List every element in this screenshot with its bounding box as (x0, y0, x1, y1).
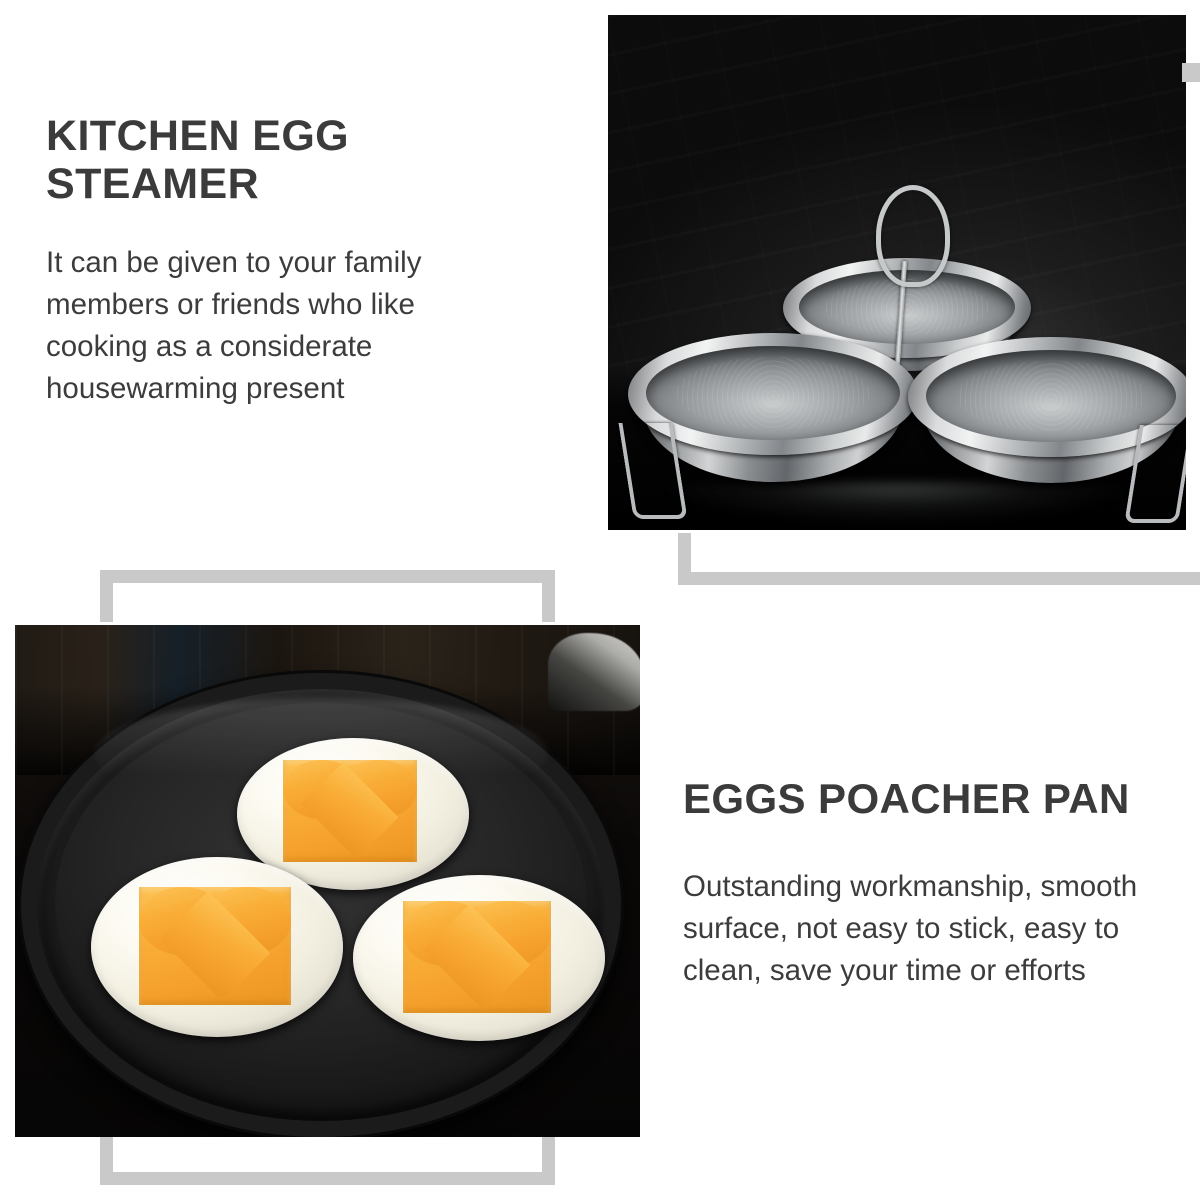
right-edge-gray-bar (1182, 63, 1200, 82)
bottom-bracket-right-leg (542, 1133, 555, 1185)
left-egg-heart-yolk (139, 887, 291, 1005)
bottom-bracket-left-leg (100, 1133, 113, 1185)
top-bracket-right-leg (542, 570, 555, 622)
steamer-headline: KITCHEN EGG STEAMER (46, 112, 516, 208)
poacher-headline: EGGS POACHER PAN (683, 775, 1153, 822)
poacher-text-block: EGGS POACHER PAN Outstanding workmanship… (683, 775, 1153, 992)
top-bracket-left-leg (100, 570, 113, 622)
wire-loop-handle-icon (876, 185, 950, 287)
left-poached-egg (91, 857, 343, 1037)
top-egg-heart-yolk (283, 760, 417, 862)
steamer-body-copy: It can be given to your family members o… (46, 242, 516, 410)
top-bracket-horizontal-arm (100, 570, 555, 583)
l-bracket-horizontal-arm (678, 572, 1200, 585)
product-reflection (648, 483, 1148, 530)
steamer-text-block: KITCHEN EGG STEAMER It can be given to y… (46, 112, 516, 410)
poacher-body-copy: Outstanding workmanship, smooth surface,… (683, 866, 1153, 992)
pan-handle (548, 633, 640, 711)
product-infographic-canvas: KITCHEN EGG STEAMER It can be given to y… (0, 0, 1200, 1200)
egg-steamer-photo (608, 15, 1186, 530)
bottom-bracket-horizontal-arm (100, 1172, 555, 1185)
left-bowl-interior (646, 346, 900, 440)
poached-eggs-photo (15, 625, 640, 1137)
right-egg-heart-yolk (403, 901, 551, 1013)
right-poached-egg (353, 875, 605, 1041)
